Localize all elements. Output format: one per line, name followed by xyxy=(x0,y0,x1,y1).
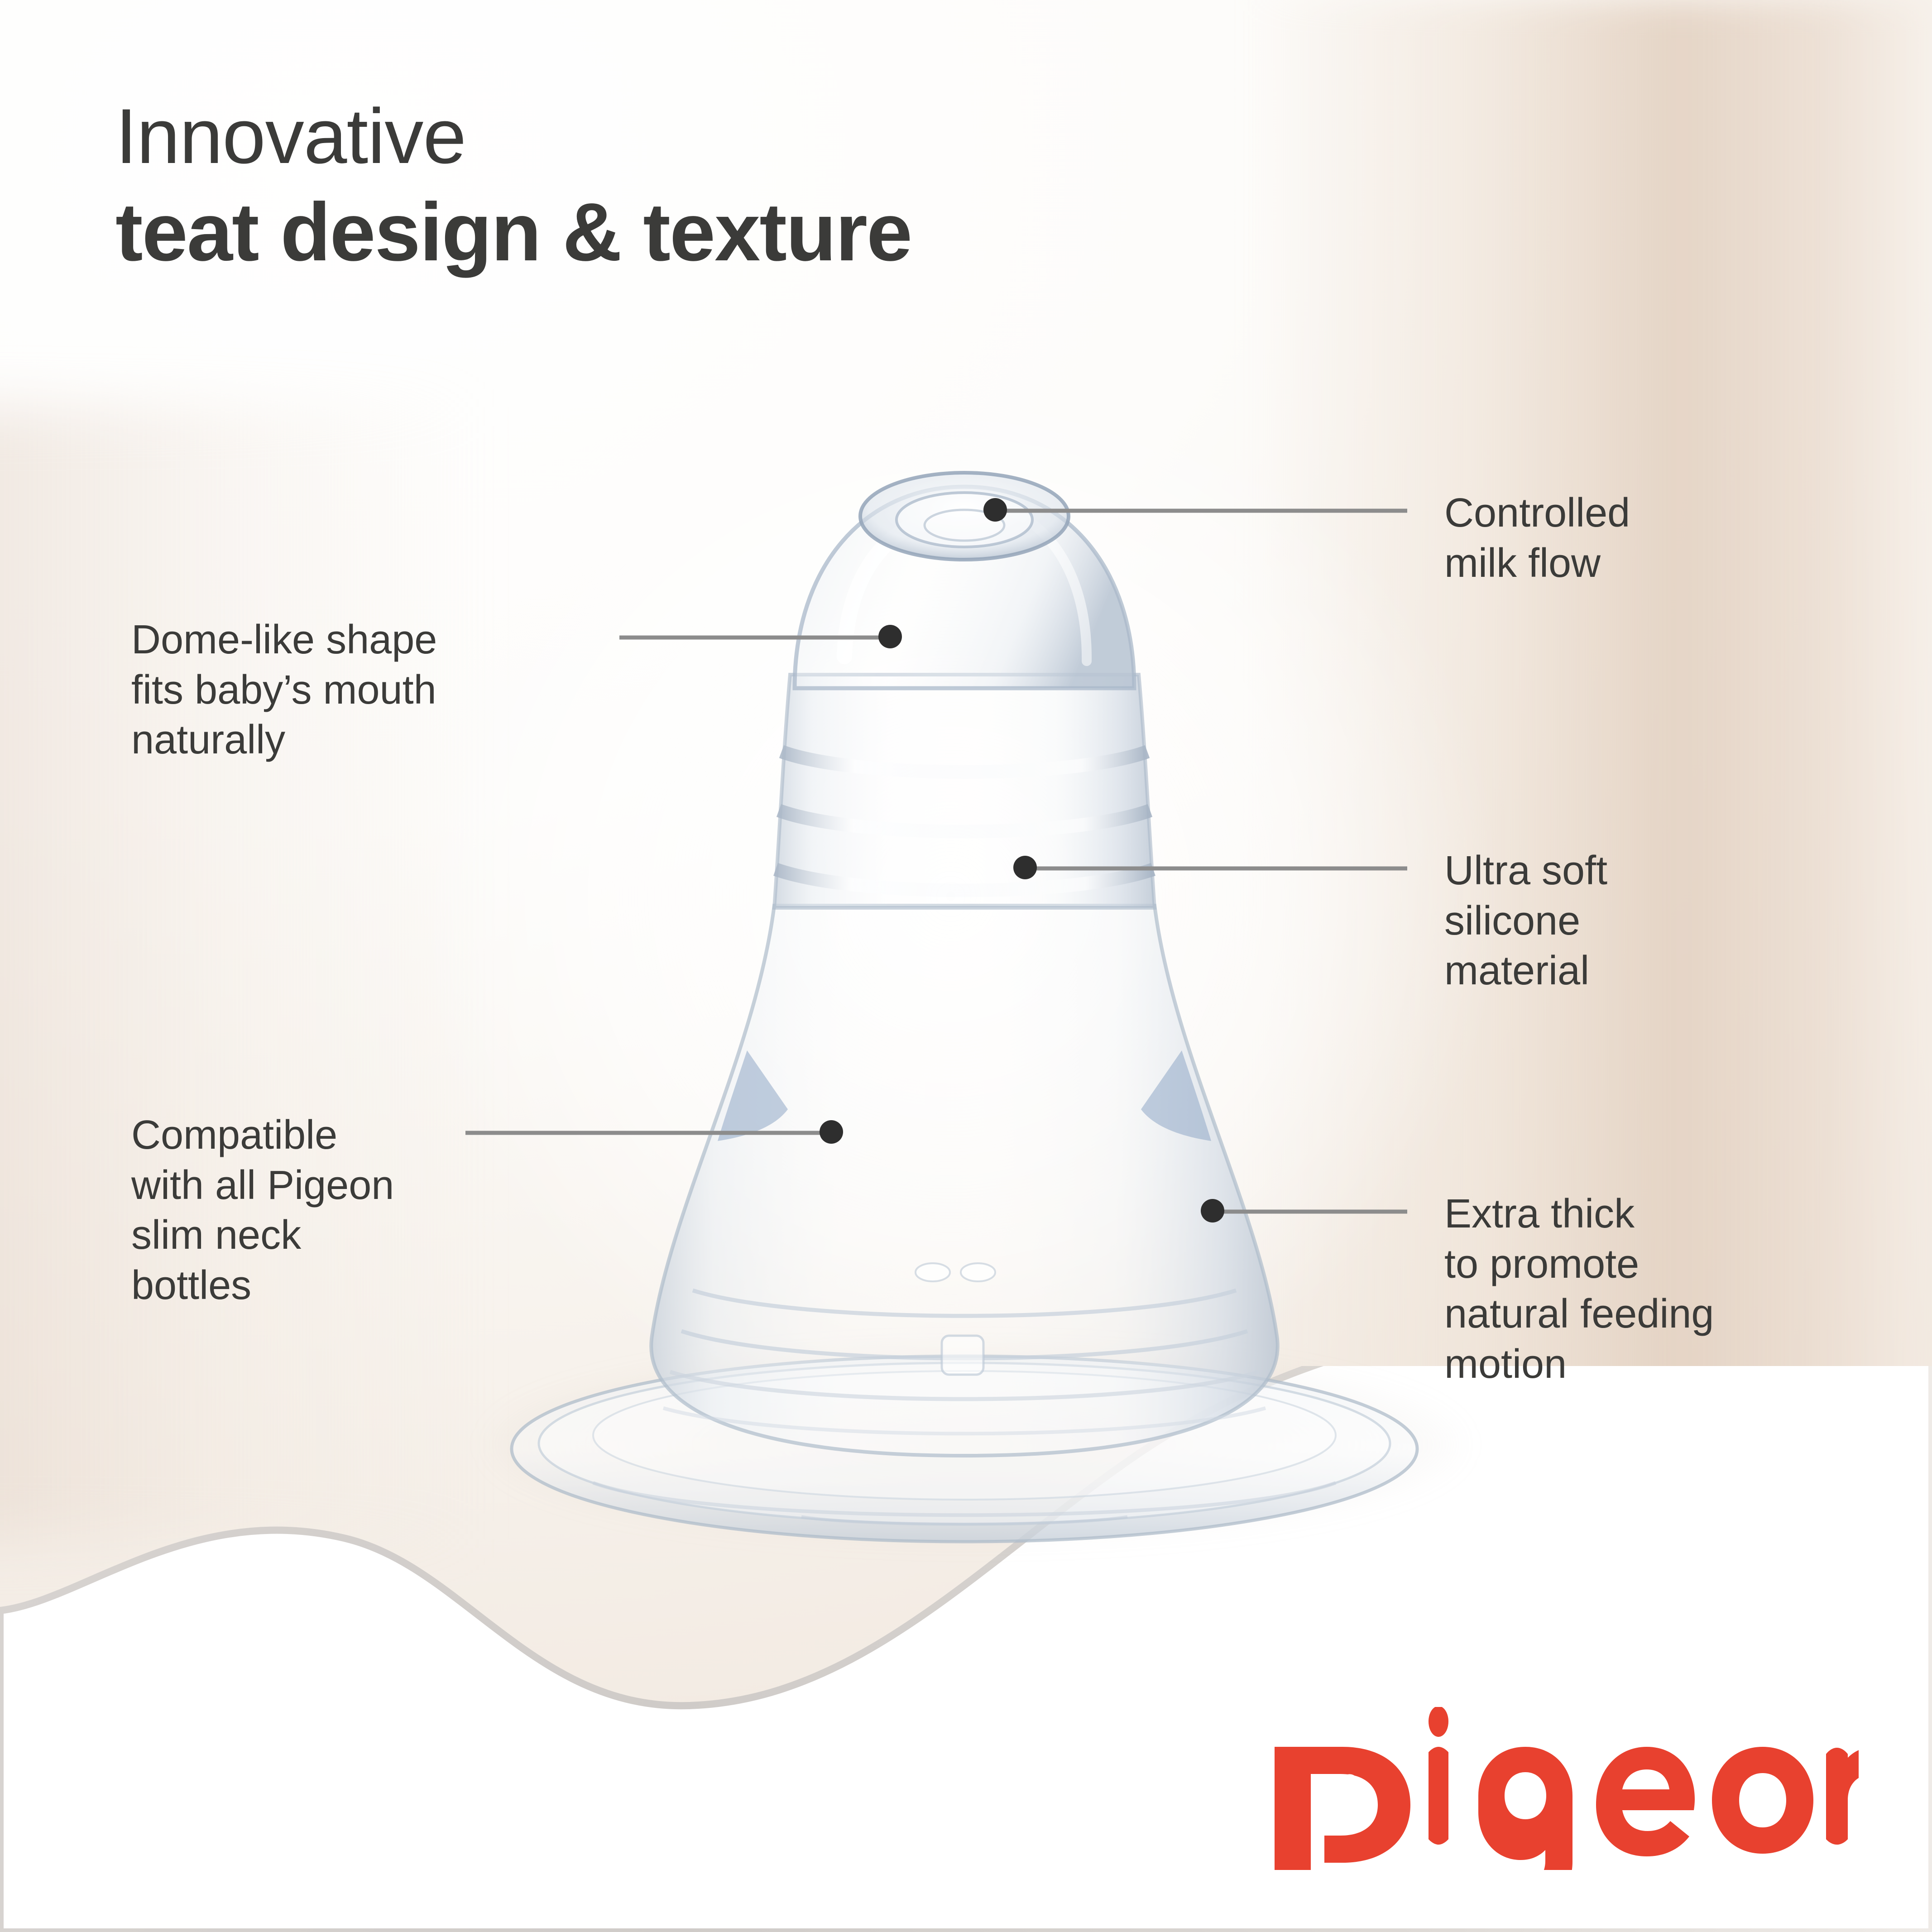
infographic-canvas: Innovative teat design & texture Control… xyxy=(0,0,1932,1932)
page-title: Innovative teat design & texture xyxy=(115,97,911,273)
callout-ultra-soft-silicone: Ultra soft silicone material xyxy=(1444,846,1607,996)
callout-extra-thick: Extra thick to promote natural feeding m… xyxy=(1444,1189,1714,1390)
pigeon-logo xyxy=(1266,1707,1859,1870)
product-image-teat xyxy=(457,462,1476,1558)
callout-dome-like-shape: Dome-like shape fits baby’s mouth natura… xyxy=(131,615,437,765)
callout-controlled-milk-flow: Controlled milk flow xyxy=(1444,488,1630,588)
callout-compatible-bottles: Compatible with all Pigeon slim neck bot… xyxy=(131,1110,394,1311)
page-title-line-2: teat design & texture xyxy=(115,191,911,273)
page-title-line-1: Innovative xyxy=(115,97,911,175)
